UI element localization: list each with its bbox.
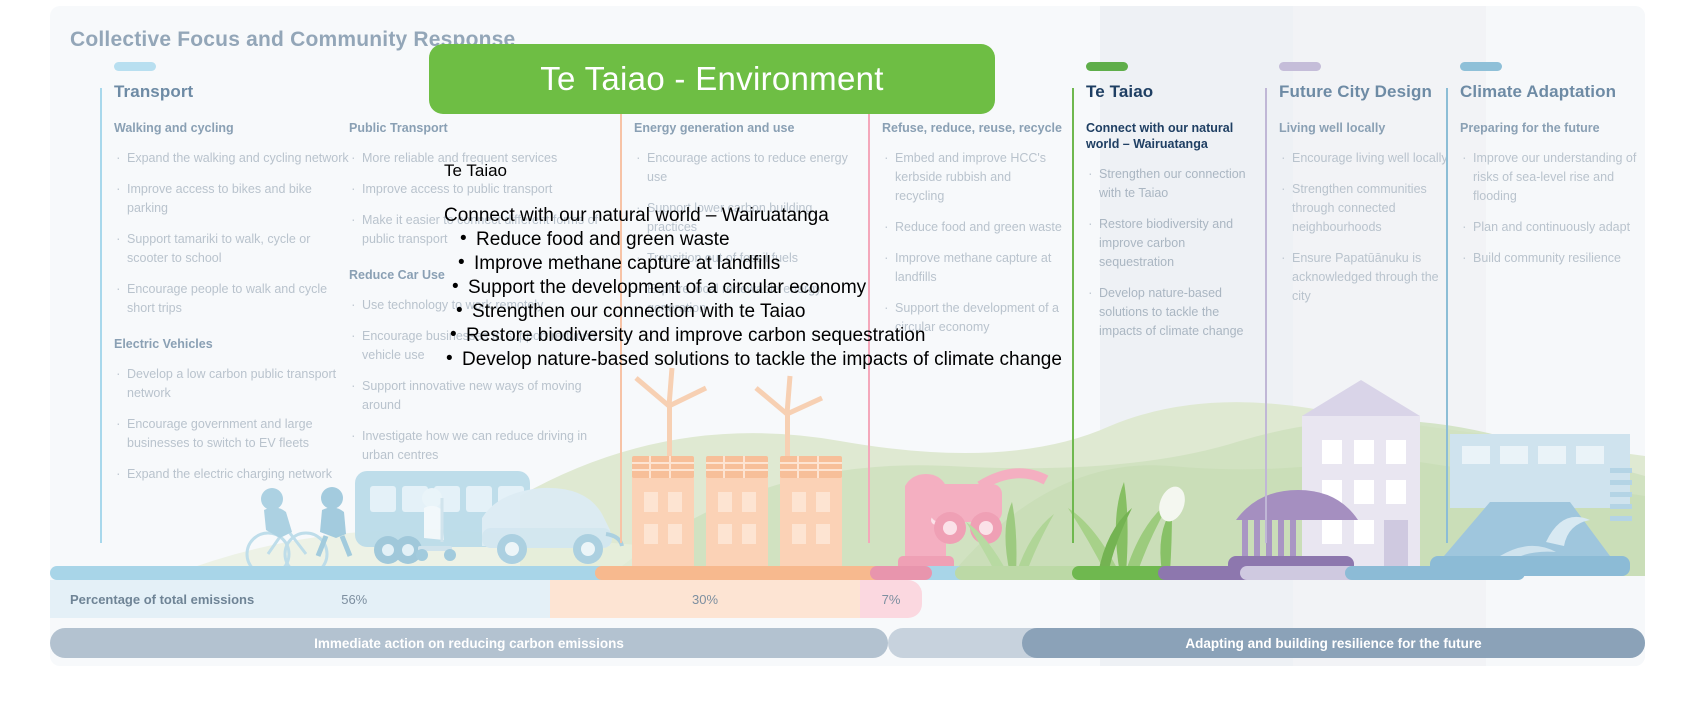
list-item: Strengthen our connection with te Taiao bbox=[1086, 165, 1256, 203]
emissions-label: Percentage of total emissions bbox=[50, 592, 254, 607]
column-te-taiao: Te Taiao Connect with our natural world … bbox=[1072, 62, 1262, 353]
group-items: Strengthen our connection with te Taiao … bbox=[1086, 165, 1256, 341]
list-item: Support innovative new ways of moving ar… bbox=[349, 377, 599, 415]
footer-bar-label: Adapting and building resilience for the… bbox=[1185, 636, 1481, 651]
column-rule-te-taiao bbox=[1072, 88, 1074, 543]
emissions-segment-waste: 7% bbox=[860, 580, 922, 618]
list-item: Expand the walking and cycling network bbox=[114, 149, 349, 168]
group-preparing-for-the-future: Preparing for the future Improve our und… bbox=[1460, 120, 1640, 280]
overlay-kicker: Te Taiao bbox=[444, 158, 1062, 184]
column-rule-future-city-design bbox=[1265, 88, 1267, 543]
infographic-root: Collective Focus and Community Response … bbox=[0, 0, 1693, 709]
overlay-text-block: Te Taiao Connect with our natural world … bbox=[444, 158, 1062, 372]
group-items: Encourage living well locally Strengthen… bbox=[1279, 149, 1451, 306]
footer-bar-label: Immediate action on reducing carbon emis… bbox=[314, 636, 624, 651]
column-title-te-taiao: Te Taiao bbox=[1072, 82, 1262, 102]
column-title-climate-adaptation: Climate Adaptation bbox=[1446, 82, 1645, 102]
group-title: Refuse, reduce, reuse, recycle bbox=[882, 120, 1062, 136]
emissions-value: 30% bbox=[550, 592, 860, 607]
overlay-bullet: Improve methane capture at landfills bbox=[458, 252, 1062, 276]
column-pill-te-taiao bbox=[1086, 62, 1128, 71]
list-item: Strengthen communities through connected… bbox=[1279, 180, 1451, 237]
list-item: Encourage people to walk and cycle short… bbox=[114, 280, 349, 318]
list-item: Encourage government and large businesse… bbox=[114, 415, 349, 453]
emissions-segment-energy: 30% bbox=[550, 580, 860, 618]
list-item: Restore biodiversity and improve carbon … bbox=[1086, 215, 1256, 272]
emissions-cap-energy bbox=[595, 566, 905, 580]
group-title: Walking and cycling bbox=[114, 120, 349, 136]
footer-bar-immediate-action: Immediate action on reducing carbon emis… bbox=[50, 628, 888, 658]
column-pill-climate-adaptation bbox=[1460, 62, 1502, 71]
list-item: Develop a low carbon public transport ne… bbox=[114, 365, 349, 403]
emissions-segment-transport: Percentage of total emissions 56% bbox=[50, 580, 550, 618]
footer-bar-adapting: Adapting and building resilience for the… bbox=[1022, 628, 1645, 658]
column-groups-future-city-design: Living well locally Encourage living wel… bbox=[1265, 120, 1455, 318]
emissions-value: 7% bbox=[860, 592, 922, 607]
group-items: Improve our understanding of risks of se… bbox=[1460, 149, 1640, 268]
group-title: Electric Vehicles bbox=[114, 336, 349, 352]
group-items: Develop a low carbon public transport ne… bbox=[114, 365, 349, 484]
group-items: Expand the walking and cycling network I… bbox=[114, 149, 349, 318]
column-climate-adaptation: Climate Adaptation Preparing for the fut… bbox=[1446, 62, 1645, 280]
column-rule-transport bbox=[100, 88, 102, 543]
column-groups-climate-adaptation: Preparing for the future Improve our und… bbox=[1446, 120, 1645, 280]
overlay-green-banner[interactable]: Te Taiao - Environment bbox=[429, 44, 995, 114]
overlay-bullet-list: Reduce food and green waste Improve meth… bbox=[444, 228, 1062, 372]
group-title: Public Transport bbox=[349, 120, 599, 136]
list-item: Expand the electric charging network bbox=[114, 465, 349, 484]
group-walking-and-cycling: Walking and cycling Expand the walking a… bbox=[114, 120, 349, 496]
column-pill-transport bbox=[114, 62, 156, 71]
overlay-lead: Connect with our natural world – Wairuat… bbox=[444, 204, 1062, 228]
group-living-well-locally: Living well locally Encourage living wel… bbox=[1279, 120, 1451, 318]
list-item: Plan and continuously adapt bbox=[1460, 218, 1640, 237]
list-item: Improve access to bikes and bike parking bbox=[114, 180, 349, 218]
footer-bars: Immediate action on reducing carbon emis… bbox=[50, 628, 1645, 658]
overlay-bullet: Support the development of a circular ec… bbox=[452, 276, 1062, 300]
emissions-cap-climate bbox=[1345, 566, 1525, 580]
group-connect-with-our-natural-world: Connect with our natural world – Wairuat… bbox=[1086, 120, 1256, 353]
column-pill-future-city-design bbox=[1279, 62, 1321, 71]
group-title: Living well locally bbox=[1279, 120, 1451, 136]
column-rule-climate-adaptation bbox=[1446, 88, 1448, 543]
list-item: Encourage living well locally bbox=[1279, 149, 1451, 168]
overlay-bullet: Develop nature-based solutions to tackle… bbox=[446, 348, 1062, 372]
column-groups-te-taiao: Connect with our natural world – Wairuat… bbox=[1072, 120, 1262, 353]
group-title: Preparing for the future bbox=[1460, 120, 1640, 136]
overlay-bullet: Reduce food and green waste bbox=[460, 228, 1062, 252]
overlay-bullet: Restore biodiversity and improve carbon … bbox=[450, 324, 1062, 348]
emissions-cap-waste bbox=[870, 566, 932, 580]
overlay-banner-label: Te Taiao - Environment bbox=[540, 60, 884, 98]
list-item: Support tamariki to walk, cycle or scoot… bbox=[114, 230, 349, 268]
column-future-city-design: Future City Design Living well locally E… bbox=[1265, 62, 1455, 318]
overlay-bullet: Strengthen our connection with te Taiao bbox=[456, 300, 1062, 324]
emissions-value: 56% bbox=[254, 592, 454, 607]
list-item: Improve our understanding of risks of se… bbox=[1460, 149, 1640, 206]
list-item: Build community resilience bbox=[1460, 249, 1640, 268]
list-item: Investigate how we can reduce driving in… bbox=[349, 427, 599, 465]
column-title-future-city-design: Future City Design bbox=[1265, 82, 1455, 102]
list-item: Develop nature-based solutions to tackle… bbox=[1086, 284, 1256, 341]
list-item: Ensure Papatūānuku is acknowledged throu… bbox=[1279, 249, 1451, 306]
emissions-bar: Percentage of total emissions 56% 30% 7% bbox=[50, 566, 1645, 618]
group-title: Connect with our natural world – Wairuat… bbox=[1086, 120, 1256, 152]
group-title: Energy generation and use bbox=[634, 120, 859, 136]
